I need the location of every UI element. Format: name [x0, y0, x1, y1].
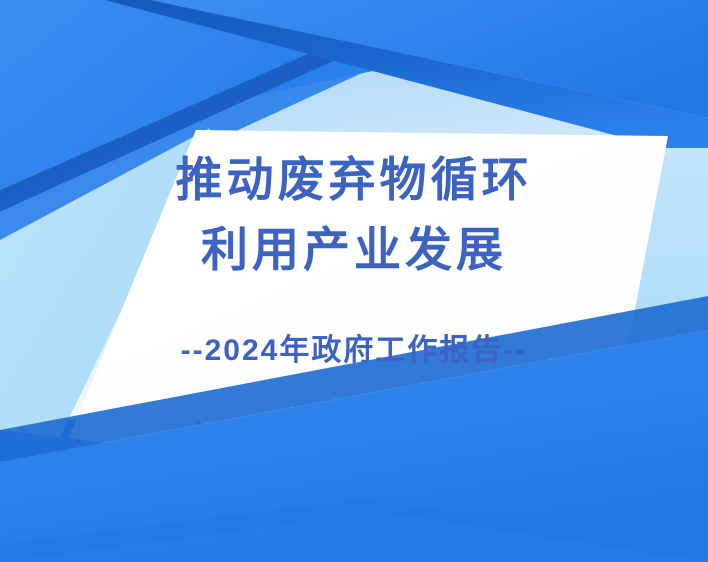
title-line-1: 推动废弃物循环 [0, 152, 708, 208]
text-layer: 推动废弃物循环 利用产业发展 --2024年政府工作报告-- [0, 0, 708, 562]
title-line-2: 利用产业发展 [0, 222, 708, 278]
slide-canvas: 推动废弃物循环 利用产业发展 --2024年政府工作报告-- [0, 0, 708, 562]
subtitle: --2024年政府工作报告-- [0, 331, 708, 371]
